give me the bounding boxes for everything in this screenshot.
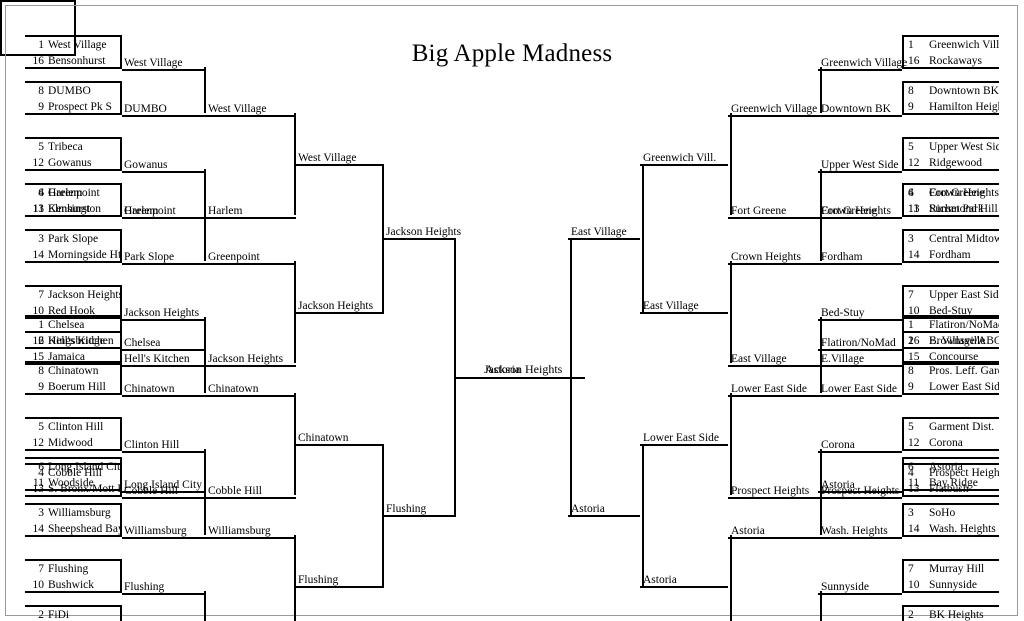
team-name: Park Slope [48,231,98,247]
matchup-box[interactable]: 5Upper West Side12Ridgewood [902,137,999,171]
winner-label: Fort Greene [731,204,786,218]
winner-label: DUMBO [124,102,167,116]
winner-label: Chinatown [298,431,348,445]
round32-slot[interactable]: Williamsburg [122,523,206,539]
team-name: BK Heights [929,607,984,621]
matchup-box[interactable]: 3Williamsburg14Sheepshead Bay [25,503,122,537]
bracket-connector [820,67,822,113]
winner-label: Jackson Heights [386,225,461,239]
bracket-connector [820,591,822,621]
championship-right-finalist[interactable]: Astoria [485,362,520,377]
round8-slot[interactable]: Lower East Side [640,430,728,446]
matchup-team-row[interactable]: 6Astoria [904,459,999,475]
winner-label: Flushing [386,502,426,516]
team-name: Hamilton Heights [929,99,999,115]
round32-slot[interactable]: Clinton Hill [122,437,206,453]
round32-slot[interactable]: West Village [122,55,206,71]
winner-label: E.Village [821,352,864,366]
winner-label: Jackson Heights [208,352,283,366]
matchup-team-row[interactable]: 12Ridgewood [904,155,999,171]
seed-number: 12 [908,155,925,171]
matchup-team-row[interactable]: 8DUMBO [25,83,120,99]
matchup-team-row[interactable]: 11Woodside [25,475,120,491]
seed-number: 7 [908,561,925,577]
winner-label: Greenwich Village [821,56,907,70]
winner-label: West Village [124,56,183,70]
winner-label: Greenwich Village [731,102,817,116]
bracket-connector [455,377,570,379]
seed-number: 3 [908,231,925,247]
matchup-team-row[interactable]: 10Sunnyside [904,577,999,593]
winner-label: Greenwich Vill. [643,151,716,165]
final-four-slot[interactable]: East Village [568,224,640,240]
round32-slot[interactable]: Greenpoint [122,203,206,219]
round32-slot[interactable]: E.Village [818,351,902,367]
matchup-team-row[interactable]: 14Sheepshead Bay [25,521,120,537]
matchup-team-row[interactable]: 1West Village [25,37,120,53]
matchup-box[interactable]: 3Park Slope14Morningside Hts [25,229,122,263]
team-name: Lower East Side [929,379,999,395]
winner-label: West Village [208,102,267,116]
seed-number: 14 [908,247,925,263]
matchup-team-row[interactable]: 7Murray Hill [904,561,999,577]
seed-number: 8 [908,363,925,379]
team-name: Gowanus [48,155,91,171]
winner-label: Flushing [298,573,338,587]
seed-number: 9 [27,379,44,395]
team-name: Astoria [929,459,963,475]
winner-label: Chinatown [124,382,174,396]
seed-number: 9 [908,379,925,395]
matchup-team-row[interactable]: 16Brownsville [904,333,999,349]
matchup-team-row[interactable]: 16Rockaways [904,53,999,69]
team-name: Central Midtown [929,231,999,247]
round32-slot[interactable]: Corona [818,437,902,453]
matchup-team-row[interactable]: 10Bushwick [25,577,120,593]
bracket-connector [204,591,206,621]
seed-number: 7 [27,561,44,577]
team-name: Chelsea [48,317,84,333]
matchup-box[interactable]: 1Chelsea16Kingsbridge [25,315,122,349]
matchup-team-row[interactable]: 16Bensonhurst [25,53,120,69]
matchup-box[interactable]: 8Pros. Leff. Gardens9Lower East Side [902,361,999,395]
bracket-connector [730,393,732,495]
team-name: Sheepshead Bay [48,521,120,537]
team-name: Fordham [929,247,971,263]
winner-label: Sunnyside [821,580,869,594]
seed-number: 8 [908,83,925,99]
winner-label: Williamsburg [208,524,271,538]
team-name: Williamsburg [48,505,111,521]
round16-slot[interactable]: Williamsburg [206,523,296,539]
bracket-canvas: Big Apple Madness 1West Village16Bensonh… [0,0,1024,621]
bracket-connector [642,444,644,586]
team-name: Sunset Park [929,201,984,217]
team-name: Greenpoint [48,185,100,201]
round8-slot[interactable]: Chinatown [296,430,384,446]
seed-number: 5 [27,419,44,435]
seed-number: 16 [908,53,925,69]
winner-label: Astoria [731,524,765,538]
seed-number: 6 [27,185,44,201]
team-name: Pros. Leff. Gardens [929,363,999,379]
matchup-box[interactable]: 7Murray Hill10Sunnyside [902,559,999,593]
seed-number: 14 [908,521,925,537]
seed-number: 6 [908,185,925,201]
winner-label: Flushing [124,580,164,594]
winner-label: Williamsburg [124,524,187,538]
team-name: Brownsville [929,333,985,349]
bracket-connector [730,535,732,621]
seed-number: 5 [908,139,925,155]
winner-label: Chinatown [208,382,258,396]
seed-number: 11 [908,201,925,217]
matchup-team-row[interactable]: 11Bay Ridge [904,475,999,491]
round16-slot[interactable]: Crown Heights [728,249,818,265]
round32-slot[interactable]: Greenwich Village [818,55,902,71]
round32-slot[interactable]: Wash. Heights [818,523,902,539]
matchup-team-row[interactable]: 2BK Heights [904,607,999,621]
round16-slot[interactable]: Greenpoint [206,249,296,265]
round16-slot[interactable]: East Village [728,351,818,367]
round8-slot[interactable]: East Village [640,298,728,314]
team-name: Sunnyside [929,577,977,593]
matchup-team-row[interactable]: 3Williamsburg [25,505,120,521]
team-name: Murray Hill [929,561,984,577]
matchup-box[interactable]: 3Central Midtown14Fordham [902,229,999,263]
winner-label: Flatiron/NoMad [821,336,896,350]
team-name: Rockaways [929,53,982,69]
seed-number: 5 [27,139,44,155]
team-name: Greenwich Village [929,37,999,53]
matchup-team-row[interactable]: 14Fordham [904,247,999,263]
matchup-team-row[interactable]: 6Crown Heights [904,185,999,201]
matchup-box[interactable]: 1West Village16Bensonhurst [25,35,122,69]
winner-label: Lower East Side [731,382,807,396]
team-name: Kingsbridge [48,333,105,349]
round16-slot[interactable]: Harlem [206,203,296,219]
winner-label: Greenpoint [208,250,260,264]
seed-number: 11 [908,475,925,491]
seed-number: 14 [27,521,44,537]
round32-slot[interactable]: Chelsea [122,335,206,351]
winner-label: Greenpoint [124,204,176,218]
matchup-team-row[interactable]: 3Park Slope [25,231,120,247]
bracket-connector [820,347,822,393]
winner-label: Astoria [643,573,677,587]
seed-number: 1 [908,37,925,53]
winner-label: Lower East Side [821,382,897,396]
round32-slot[interactable]: Park Slope [122,249,206,265]
winner-label: Lower East Side [643,431,719,445]
round32-slot[interactable]: Sunnyside [818,579,902,595]
winner-label: Prospect Heights [731,484,809,498]
team-name: Bushwick [48,577,94,593]
seed-number: 16 [27,53,44,69]
matchup-box[interactable]: 2FiDi15Kew Gardens [25,605,122,621]
matchup-team-row[interactable]: 12Corona [904,435,999,451]
seed-number: 14 [27,247,44,263]
team-name: Morningside Hts [48,247,120,263]
matchup-box[interactable]: 6Long Island City11Woodside [25,457,122,491]
winner-label: Long Island City [124,478,202,492]
round16-slot[interactable]: West Village [206,101,296,117]
bracket-connector [642,164,644,312]
winner-label: Wash. Heights [821,524,888,538]
round16-slot[interactable]: Fort Greene [728,203,818,219]
bracket-connector [730,113,732,215]
seed-number: 16 [27,333,44,349]
round16-slot[interactable]: Jackson Heights [206,351,296,367]
matchup-team-row[interactable]: 8Chinatown [25,363,120,379]
matchup-team-row[interactable]: 6Long Island City [25,459,120,475]
team-name: SoHo [929,505,955,521]
seed-number: 6 [908,459,925,475]
winner-label: East Village [731,352,787,366]
matchup-team-row[interactable]: 5Upper West Side [904,139,999,155]
final-four-slot[interactable]: Flushing [384,501,456,517]
winner-label: Astoria [821,478,855,492]
matchup-box[interactable]: 8Downtown BK9Hamilton Heights [902,81,999,115]
round8-slot[interactable]: Flushing [296,572,384,588]
matchup-team-row[interactable]: 3SoHo [904,505,999,521]
matchup-team-row[interactable]: 9Prospect Pk S [25,99,120,115]
matchup-box[interactable]: 5Garment Dist.12Corona [902,417,999,451]
matchup-box[interactable]: 6Astoria11Bay Ridge [902,457,999,491]
matchup-team-row[interactable]: 12Gowanus [25,155,120,171]
matchup-team-row[interactable]: 14Morningside Hts [25,247,120,263]
winner-label: Bed-Stuy [821,306,864,320]
seed-number: 10 [27,577,44,593]
winner-label: Crown Heights [731,250,801,264]
team-name: Midwood [48,435,93,451]
round32-slot[interactable]: Chinatown [122,381,206,397]
round32-slot[interactable]: Flushing [122,579,206,595]
winner-label: Astoria [571,502,605,516]
seed-number: 11 [27,475,44,491]
final-four-slot[interactable]: Jackson Heights [384,224,456,240]
round32-slot[interactable]: Fordham [818,249,902,265]
matchup-box[interactable]: 1Flatiron/NoMad16Brownsville [902,315,999,349]
team-name: Flatiron/NoMad [929,317,999,333]
seed-number: 9 [908,99,925,115]
matchup-box[interactable]: 8Chinatown9Boerum Hill [25,361,122,395]
matchup-box[interactable]: 1Greenwich Village16Rockaways [902,35,999,69]
matchup-team-row[interactable]: 5Garment Dist. [904,419,999,435]
matchup-box[interactable]: 7Flushing10Bushwick [25,559,122,593]
seed-number: 6 [27,459,44,475]
matchup-team-row[interactable]: 9Hamilton Heights [904,99,999,115]
matchup-box[interactable]: 6Greenpoint11Elmhurst [25,183,122,217]
winner-label: Chelsea [124,336,160,350]
matchup-box[interactable]: 8DUMBO9Prospect Pk S [25,81,122,115]
seed-number: 1 [908,317,925,333]
team-name: Upper West Side [929,139,999,155]
seed-number: 3 [27,231,44,247]
team-name: Bay Ridge [929,475,978,491]
round32-slot[interactable]: Gowanus [122,157,206,173]
seed-number: 12 [908,435,925,451]
matchup-team-row[interactable]: 2FiDi [25,607,120,621]
team-name: Crown Heights [929,185,999,201]
round8-slot[interactable]: Greenwich Vill. [640,150,728,166]
winner-label: East Village [571,225,627,239]
team-name: FiDi [48,607,69,621]
seed-number: 16 [908,333,925,349]
seed-number: 1 [27,317,44,333]
team-name: Garment Dist. [929,419,994,435]
matchup-team-row[interactable]: 5Tribeca [25,139,120,155]
team-name: Elmhurst [48,201,90,217]
winner-label: Crown Heights [821,204,891,218]
winner-label: Jackson Heights [124,306,199,320]
team-name: Downtown BK [929,83,999,99]
matchup-team-row[interactable]: 11Sunset Park [904,201,999,217]
seed-number: 7 [908,287,925,303]
seed-number: 5 [908,419,925,435]
team-name: Woodside [48,475,94,491]
winner-label: Jackson Heights [298,299,373,313]
matchup-team-row[interactable]: 7Upper East Side [904,287,999,303]
winner-label: Harlem [208,204,242,218]
round32-slot[interactable]: Downtown BK [818,101,902,117]
round8-slot[interactable]: Jackson Heights [296,298,384,314]
seed-number: 2 [27,607,44,621]
seed-number: 8 [27,83,44,99]
seed-number: 2 [908,607,925,621]
winner-label: Park Slope [124,250,174,264]
matchup-box[interactable]: 5Clinton Hill12Midwood [25,417,122,451]
winner-label: Clinton Hill [124,438,179,452]
matchup-team-row[interactable]: 1Flatiron/NoMad [904,317,999,333]
matchup-box[interactable]: 7Upper East Side10Bed-Stuy [902,285,999,319]
round8-slot[interactable]: West Village [296,150,384,166]
matchup-box[interactable]: 7Jackson Heights10Red Hook [25,285,122,319]
round16-slot[interactable]: Greenwich Village [728,101,818,117]
seed-number: 9 [27,99,44,115]
winner-label: Upper West Side [821,158,898,172]
seed-number: 8 [27,363,44,379]
seed-number: 1 [27,37,44,53]
round32-slot[interactable]: Astoria [818,477,902,493]
team-name: Corona [929,435,963,451]
matchup-team-row[interactable]: 12Midwood [25,435,120,451]
team-name: Bensonhurst [48,53,106,69]
round32-slot[interactable]: Crown Heights [818,203,902,219]
final-four-slot[interactable]: Astoria [568,501,640,517]
team-name: Tribeca [48,139,83,155]
team-name: Long Island City [48,459,120,475]
round16-slot[interactable]: Prospect Heights [728,483,818,499]
winner-label: Hell's Kitchen [124,352,190,366]
seed-number: 12 [27,435,44,451]
seed-number: 12 [27,155,44,171]
bracket-connector [820,215,822,261]
bracket-connector [730,261,732,363]
round16-slot[interactable]: Astoria [728,523,818,539]
seed-number: 7 [27,287,44,303]
winner-label: Gowanus [124,158,167,172]
matchup-team-row[interactable]: 5Clinton Hill [25,419,120,435]
winner-label: Fordham [821,250,863,264]
bracket-connector [820,489,822,535]
round32-slot[interactable]: Jackson Heights [122,305,206,321]
round16-slot[interactable]: Chinatown [206,381,296,397]
matchup-team-row[interactable]: 8Downtown BK [904,83,999,99]
matchup-box[interactable]: 2BK Heights15E. New York [902,605,999,621]
matchup-team-row[interactable]: 8Pros. Leff. Gardens [904,363,999,379]
round16-slot[interactable]: Lower East Side [728,381,818,397]
matchup-team-row[interactable]: 1Greenwich Village [904,37,999,53]
team-name: Ridgewood [929,155,982,171]
round32-slot[interactable]: DUMBO [122,101,206,117]
seed-number: 3 [27,505,44,521]
team-name: DUMBO [48,83,91,99]
matchup-team-row[interactable]: 16Kingsbridge [25,333,120,349]
seed-number: 3 [908,505,925,521]
round32-slot[interactable]: Lower East Side [818,381,902,397]
round32-slot[interactable]: Bed-Stuy [818,305,902,321]
matchup-team-row[interactable]: 9Boerum Hill [25,379,120,395]
seed-number: 11 [27,201,44,217]
team-name: Chinatown [48,363,98,379]
team-name: West Village [48,37,107,53]
matchup-box[interactable]: 3SoHo14Wash. Heights [902,503,999,537]
winner-label: West Village [298,151,357,165]
winner-label: Corona [821,438,855,452]
matchup-team-row[interactable]: 11Elmhurst [25,201,120,217]
matchup-team-row[interactable]: 7Flushing [25,561,120,577]
matchup-box[interactable]: 6Crown Heights11Sunset Park [902,183,999,217]
round32-slot[interactable]: Hell's Kitchen [122,351,206,367]
matchup-team-row[interactable]: 6Greenpoint [25,185,120,201]
matchup-box[interactable]: 5Tribeca12Gowanus [25,137,122,171]
matchup-team-row[interactable]: 3Central Midtown [904,231,999,247]
team-name: Wash. Heights [929,521,996,537]
team-name: Flushing [48,561,88,577]
round8-slot[interactable]: Astoria [640,572,728,588]
matchup-team-row[interactable]: 14Wash. Heights [904,521,999,537]
round32-slot[interactable]: Upper West Side [818,157,902,173]
winner-label: Downtown BK [821,102,891,116]
team-name: Prospect Pk S [48,99,112,115]
winner-label: Cobble Hill [208,484,262,498]
team-name: Clinton Hill [48,419,103,435]
round16-slot[interactable]: Cobble Hill [206,483,296,499]
team-name: Upper East Side [929,287,999,303]
matchup-team-row[interactable]: 9Lower East Side [904,379,999,395]
seed-number: 10 [908,577,925,593]
team-name: Jackson Heights [48,287,120,303]
matchup-team-row[interactable]: 7Jackson Heights [25,287,120,303]
team-name: Boerum Hill [48,379,106,395]
round32-slot[interactable]: Flatiron/NoMad [818,335,902,351]
winner-label: East Village [643,299,699,313]
matchup-team-row[interactable]: 1Chelsea [25,317,120,333]
round32-slot[interactable]: Long Island City [122,477,206,493]
